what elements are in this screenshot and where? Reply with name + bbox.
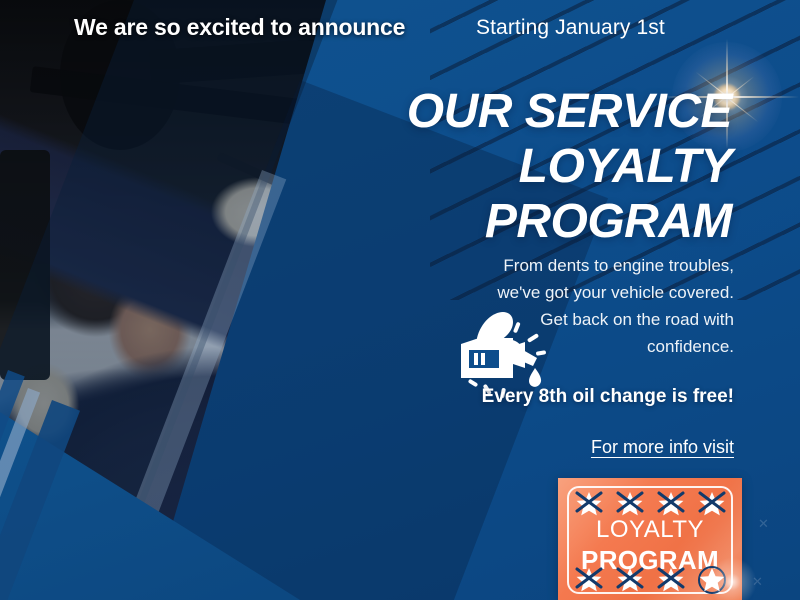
announcement-text: We are so excited to announce: [74, 14, 405, 41]
promotional-poster: We are so excited to announce Starting J…: [0, 0, 800, 600]
body-line-1: From dents to engine troubles,: [434, 252, 734, 279]
stamp-slot-stamped: [656, 489, 686, 517]
stamp-row-top: [558, 488, 742, 518]
stamp-row-bottom: [558, 564, 742, 594]
more-info-link[interactable]: For more info visit: [394, 437, 734, 458]
stamp-slot-reward: [697, 565, 727, 593]
more-info-link-text: For more info visit: [591, 437, 734, 457]
page-title: OUR SERVICE LOYALTY PROGRAM: [312, 84, 732, 249]
card-title-light: LOYALTY: [558, 518, 742, 542]
stamp-slot-stamped: [615, 565, 645, 593]
stamp-slot-stamped: [574, 489, 604, 517]
headline-line-3: PROGRAM: [312, 194, 732, 249]
loyalty-card[interactable]: LOYALTY PROGRAM: [558, 478, 742, 600]
start-date-text: Starting January 1st: [476, 16, 665, 40]
promo-tagline: Every 8th oil change is free!: [394, 386, 734, 408]
decorative-x: ✕: [758, 516, 769, 532]
stamp-slot-stamped: [697, 489, 727, 517]
headline-line-1: OUR SERVICE: [312, 84, 732, 139]
stamp-slot-stamped: [656, 565, 686, 593]
headline-line-2: LOYALTY: [312, 139, 732, 194]
stamp-slot-stamped: [615, 489, 645, 517]
decorative-x: ✕: [752, 574, 763, 590]
stamp-slot-stamped: [574, 565, 604, 593]
